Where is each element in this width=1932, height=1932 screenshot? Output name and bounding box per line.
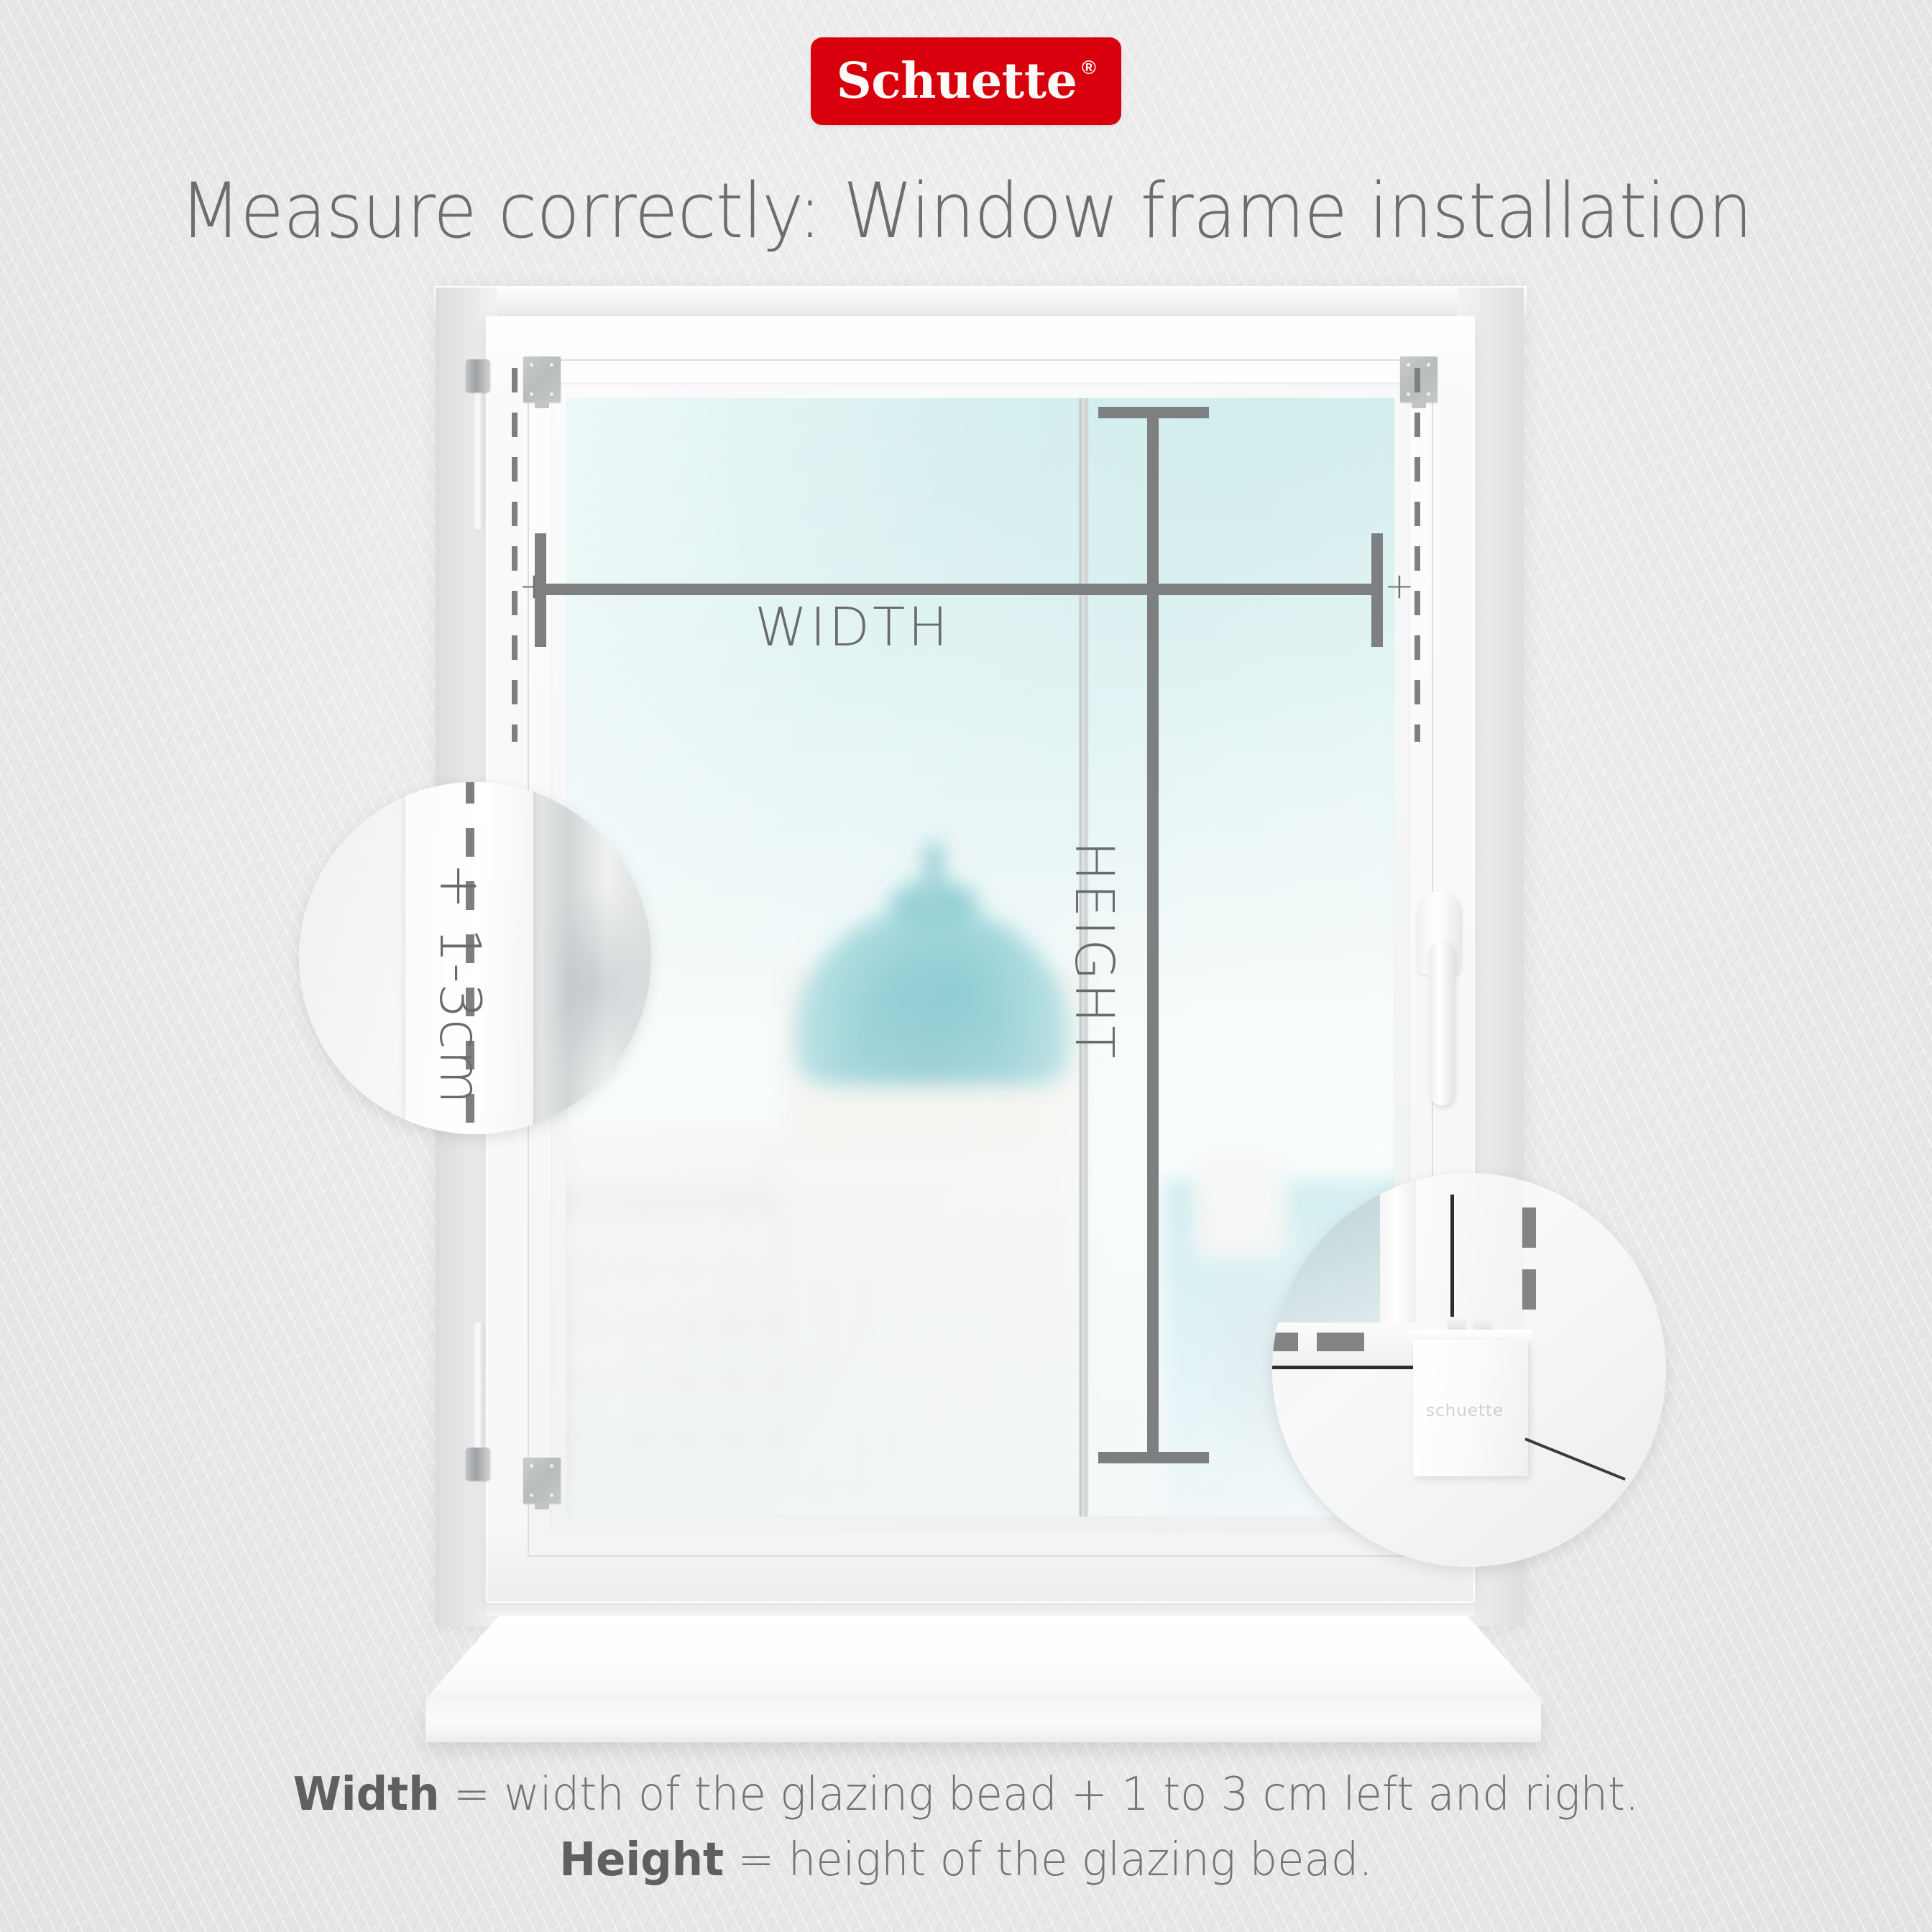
magnifier-left-tolerance: + 1-3cm — [299, 782, 651, 1134]
legend-width-key: Width — [293, 1768, 440, 1821]
magnifier-right-bead-dash-b — [1317, 1333, 1364, 1351]
mounting-plate-top-right — [1400, 356, 1437, 402]
bracket-brand-label: schuette — [1426, 1402, 1504, 1420]
window-sill-edge — [425, 1698, 1541, 1742]
legend-line-width: Width = width of the glazing bead + 1 to… — [48, 1762, 1884, 1828]
city-view-image — [566, 398, 1394, 1517]
mounting-plate-top-left — [523, 356, 561, 402]
hinge-rod-bottom — [473, 1322, 484, 1449]
legend: Width = width of the glazing bead + 1 to… — [0, 1762, 1932, 1893]
magnifier-right-bead-dash-a — [1272, 1333, 1298, 1351]
window-glass — [566, 398, 1394, 1517]
magnifier-right-dashed-guide — [1522, 1207, 1536, 1314]
hinge-rod-top — [473, 392, 484, 529]
tower-finial — [924, 844, 943, 913]
magnifier-left-blur — [558, 897, 651, 1077]
magnifier-right-bracket: schuette — [1272, 1173, 1666, 1567]
magnifier-right-sash-face — [1416, 1173, 1524, 1343]
reveal-lintel — [434, 286, 1527, 318]
magnifier-right-glass — [1272, 1173, 1394, 1324]
window-hinge-top — [466, 359, 490, 392]
atmospheric-haze — [566, 935, 1394, 1517]
legend-line-height: Height = height of the glazing bead. — [48, 1828, 1884, 1893]
magnifier-right-sash-bar — [1380, 1173, 1417, 1338]
window-illustration — [0, 0, 1932, 1932]
window-hinge-bottom — [466, 1448, 490, 1481]
legend-height-key: Height — [559, 1834, 724, 1887]
legend-width-text: = width of the glazing bead + 1 to 3 cm … — [440, 1768, 1639, 1821]
glazing-mullion — [1080, 398, 1087, 1517]
magnifier-right-black-edge — [1272, 1366, 1413, 1369]
magnifier-right-seam — [1450, 1195, 1454, 1324]
mounting-plate-bottom-left — [523, 1458, 561, 1504]
window-handle-lever[interactable] — [1429, 940, 1455, 1105]
window-sill-top — [425, 1616, 1541, 1699]
legend-height-text: = height of the glazing bead. — [724, 1834, 1373, 1887]
tolerance-callout-label: + 1-3cm — [427, 862, 492, 1104]
